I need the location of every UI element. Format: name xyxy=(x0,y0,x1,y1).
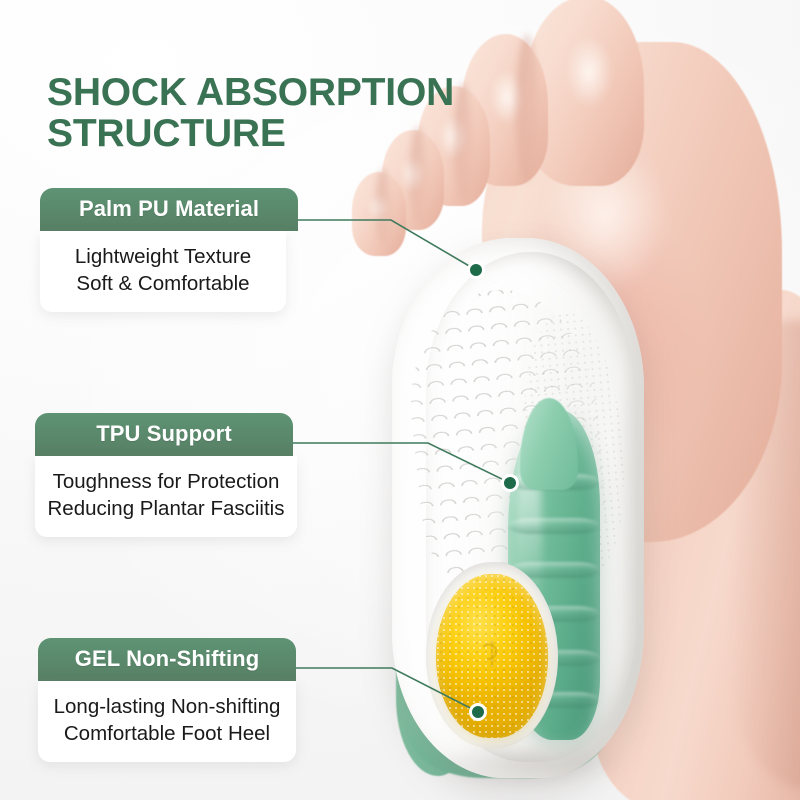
product-infographic-poster: SHOCK ABSORPTION STRUCTURE Palm PU Mater… xyxy=(0,0,800,800)
callout-tpu-support: TPU Support Toughness for Protection Red… xyxy=(35,413,293,537)
page-title-line-1: SHOCK ABSORPTION xyxy=(47,71,454,114)
callout-palm-pu-material: Palm PU Material Lightweight Texture Sof… xyxy=(40,188,298,312)
product-contact-shadow xyxy=(404,732,654,792)
toe-gap-4 xyxy=(376,168,390,244)
tpu-rib xyxy=(508,518,600,534)
callout-description-line: Long-lasting Non-shifting xyxy=(46,693,288,720)
toe-gap-1 xyxy=(516,34,538,184)
callout-description: Toughness for Protection Reducing Planta… xyxy=(35,456,297,537)
toe-big-highlight xyxy=(558,24,620,120)
callout-description-line: Comfortable Foot Heel xyxy=(46,720,288,747)
gel-logo-icon xyxy=(472,636,512,676)
callout-description: Long-lasting Non-shifting Comfortable Fo… xyxy=(38,681,296,762)
callout-description-line: Lightweight Texture xyxy=(48,243,278,270)
callout-description-line: Reducing Plantar Fasciitis xyxy=(43,495,289,522)
callout-title: Palm PU Material xyxy=(40,188,298,231)
page-title: SHOCK ABSORPTION STRUCTURE xyxy=(47,72,477,155)
callout-gel-non-shifting: GEL Non-Shifting Long-lasting Non-shifti… xyxy=(38,638,296,762)
callout-title: TPU Support xyxy=(35,413,293,456)
page-title-line-2: STRUCTURE xyxy=(47,113,477,154)
callout-description-line: Soft & Comfortable xyxy=(48,270,278,297)
callout-description-line: Toughness for Protection xyxy=(43,468,289,495)
gel-heel-pad xyxy=(436,574,548,738)
callout-title: GEL Non-Shifting xyxy=(38,638,296,681)
callout-description: Lightweight Texture Soft & Comfortable xyxy=(40,231,286,312)
